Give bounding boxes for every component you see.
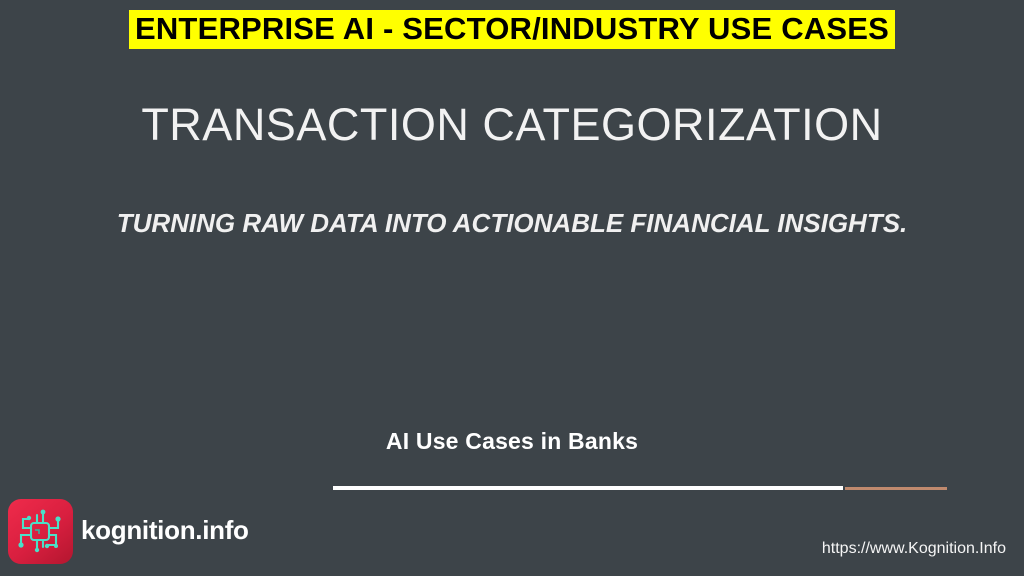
divider-segment-accent <box>845 487 947 490</box>
divider-segment-primary <box>333 486 843 490</box>
divider <box>333 486 947 490</box>
slide-title: TRANSACTION CATEGORIZATION <box>0 100 1024 150</box>
slide-subtitle: TURNING RAW DATA INTO ACTIONABLE FINANCI… <box>80 207 944 240</box>
banner-container: ENTERPRISE AI - SECTOR/INDUSTRY USE CASE… <box>0 10 1024 49</box>
logo-wordmark: kognition.info <box>81 515 249 546</box>
brand-logo: kognition.info <box>8 499 248 569</box>
circuit-chip-icon <box>8 499 73 564</box>
slide-canvas: ENTERPRISE AI - SECTOR/INDUSTRY USE CASE… <box>0 0 1024 576</box>
slide-caption: AI Use Cases in Banks <box>0 428 1024 455</box>
section-banner: ENTERPRISE AI - SECTOR/INDUSTRY USE CASE… <box>129 10 895 49</box>
